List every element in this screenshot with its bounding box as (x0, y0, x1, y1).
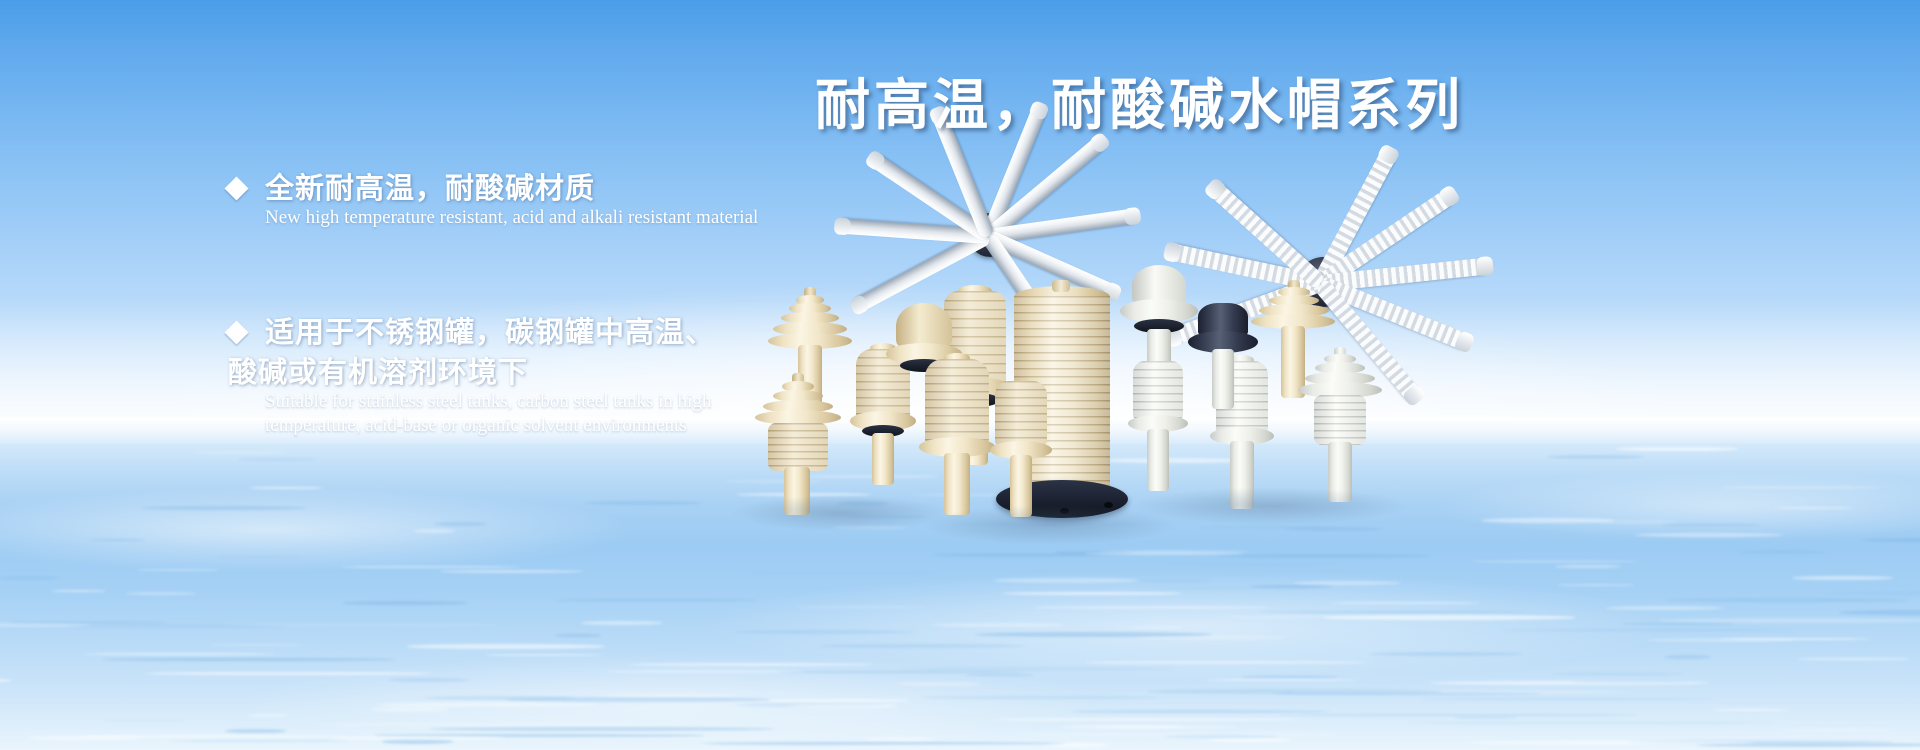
cap-stem (1147, 429, 1169, 491)
feature-1-en-line-1: New high temperature resistant, acid and… (265, 206, 758, 230)
feature-2-cn-line-2: 酸碱或有机溶剂环境下 (228, 352, 715, 392)
product-banner: 耐高温，耐酸碱水帽系列 全新耐高温，耐酸碱材质 New high tempera… (0, 0, 1920, 750)
stepped-cone-cap-white (1298, 347, 1382, 507)
cone-body (768, 423, 828, 471)
feature-2-cn-line-1: 适用于不锈钢罐，碳钢罐中高温、 (265, 312, 715, 352)
cap-body (995, 381, 1047, 445)
cap-stem (944, 453, 970, 515)
feature-1-cn-line-1: 全新耐高温，耐酸碱材质 (265, 168, 595, 208)
ribbed-cap-filter-c (920, 353, 994, 523)
contact-shadow (730, 495, 950, 531)
dome-cap-dark (1188, 303, 1258, 423)
contact-shadow (1130, 487, 1410, 525)
cap-body (925, 359, 989, 445)
ribbed-cap-filter-e (1128, 361, 1188, 501)
cap-body (1133, 361, 1183, 419)
cap-stem (872, 433, 894, 485)
cylinder-top-nub (1052, 280, 1070, 292)
feature-bullet-2: 适用于不锈钢罐，碳钢罐中高温、 酸碱或有机溶剂环境下 Suitable for … (228, 312, 715, 438)
diamond-bullet-icon (224, 176, 248, 200)
page-title: 耐高温，耐酸碱水帽系列 (815, 60, 1464, 140)
cone-body (1314, 395, 1366, 445)
dark-cap-stem (1212, 349, 1234, 409)
feature-bullet-1: 全新耐高温，耐酸碱材质 New high temperature resista… (228, 168, 758, 230)
product-group (690, 125, 1500, 545)
diamond-bullet-icon (224, 320, 248, 344)
feature-2-en-line-2: temperature, acid-base or organic solven… (265, 414, 715, 438)
feature-2-en-line-1: Suitable for stainless steel tanks, carb… (265, 390, 715, 414)
